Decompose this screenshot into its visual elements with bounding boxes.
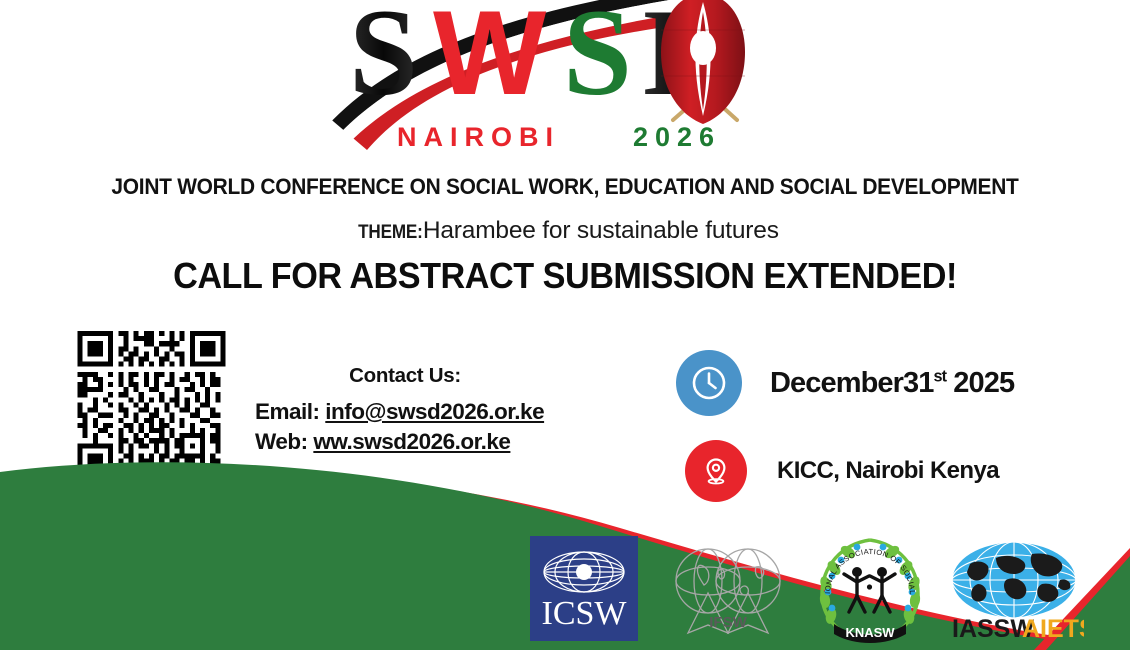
deadline-date-ordinal: st [934,367,947,385]
logo-letter-s1: S [349,0,418,121]
logo-aiets-label: AIETS [1022,615,1084,643]
logo-letter-w: W [433,0,547,120]
partner-logos: ICSW IFSW [520,532,1120,650]
logo-knasw: KENYA NATIONAL ASSOCIATION OF SOCIAL WOR… [812,532,928,650]
logo-ifsw: IFSW [664,537,790,646]
contact-email-row: Email: info@swsd2026.or.ke [247,397,557,427]
contact-web-value[interactable]: ww.swsd2026.or.ke [313,429,510,454]
logo-city: NAIROBI [397,122,560,152]
logo-year: 2026 [633,122,721,152]
logo-letter-s2: S [563,0,632,121]
call-for-abstract-heading: CALL FOR ABSTRACT SUBMISSION EXTENDED! [28,255,1102,297]
swsd-logo: S W S D NAIROBI 2026 [0,0,1130,150]
deadline-row: December31st 2025 [676,350,1014,416]
logo-ifsw-label: IFSW [709,614,747,631]
venue-location: KICC, Nairobi Kenya [777,457,999,485]
deadline-date-prefix: December31 [770,367,934,399]
deadline-date: December31st 2025 [770,367,1014,400]
map-pin-icon [685,440,747,502]
clock-icon [676,350,742,416]
deadline-date-year: 2025 [946,367,1014,399]
contact-web-row: Web: ww.swsd2026.or.ke [247,427,557,457]
conference-poster: S W S D NAIROBI 2026 JOINT WORLD CONFERE… [0,0,1130,650]
contact-email-value[interactable]: info@swsd2026.or.ke [325,399,544,424]
logo-iassw-aiets: IASSW AIETS [944,534,1084,649]
logo-icsw: ICSW [530,536,638,646]
contact-web-label: Web: [255,429,308,454]
venue-row: KICC, Nairobi Kenya [682,440,999,502]
conference-title: JOINT WORLD CONFERENCE ON SOCIAL WORK, E… [40,174,1091,200]
contact-block: Contact Us: Email: info@swsd2026.or.ke W… [247,364,557,457]
theme-line: THEME:Harambee for sustainable futures [0,217,1130,245]
knasw-figures [844,567,895,612]
qr-code[interactable] [63,323,240,487]
contact-heading: Contact Us: [247,364,557,388]
logo-icsw-label: ICSW [542,595,628,632]
theme-text: Harambee for sustainable futures [423,217,779,244]
logo-knasw-label: KNASW [845,625,895,640]
contact-email-label: Email: [255,399,320,424]
theme-label: THEME: [358,222,422,244]
